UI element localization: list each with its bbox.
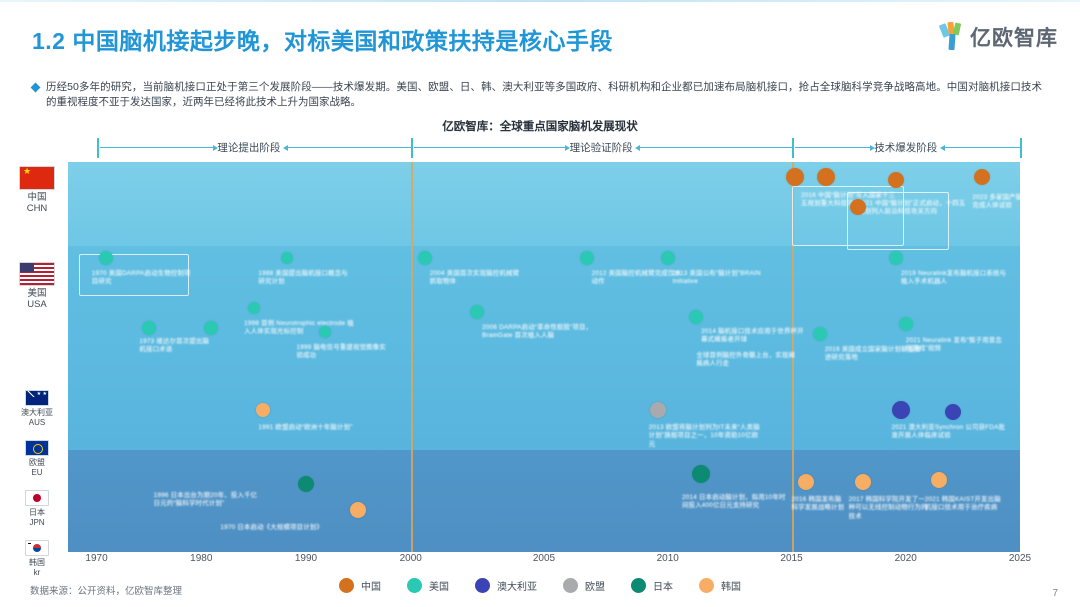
timeline-annotation: 2004 美国首次实现脑控机械臂抓取物体 (430, 270, 526, 287)
logo-mark-icon (941, 22, 967, 52)
data-point-日本 (298, 476, 314, 492)
legend-swatch (699, 578, 714, 593)
phase-arrow-right (287, 147, 411, 148)
country-name: 澳大利亚AUS (8, 408, 66, 427)
timeline-annotation: 2021 Neuralink 发布“猴子用意念玩游戏”视频 (906, 337, 1006, 354)
country-label-AUS: 澳大利亚AUS (8, 390, 66, 427)
highlight-callout-box (79, 254, 189, 296)
data-point-韩国 (855, 474, 871, 490)
phase-label: 技术爆发阶段 (874, 140, 937, 155)
chart-title: 亿欧智库：全球重点国家脑机发展现状 (0, 118, 1080, 134)
timeline-annotation: 2017 韩国科学院开发了一种可以无线控制动物行为的技术 (849, 496, 929, 521)
diamond-bullet-icon (31, 83, 41, 93)
timeline-annotation: 1970 日本启动《大规模项目计划》 (220, 524, 340, 532)
flag-icon-EU (25, 440, 49, 456)
legend-swatch (563, 578, 578, 593)
phase-bracket-row: 理论提出阶段理论验证阶段技术爆发阶段 (68, 138, 1020, 160)
flag-icon-AUS (25, 390, 49, 406)
data-point-日本 (692, 465, 710, 483)
timeline-annotation: 1991 欧盟启动“欧洲十年脑计划” (258, 424, 368, 432)
legend-label: 韩国 (721, 578, 741, 593)
timeline-annotation: 全球首例脑控外骨骼上台，实现瘫痪病人行走 (696, 352, 800, 369)
legend-label: 日本 (653, 578, 673, 593)
country-name: 韩国kr (8, 558, 66, 577)
timeline-annotation: 2013 美国公布“脑计划”BRAIN Initiative (673, 270, 769, 287)
legend-item-欧盟[interactable]: 欧盟 (563, 578, 605, 593)
legend-item-韩国[interactable]: 韩国 (699, 578, 741, 593)
country-label-kr: 韩国kr (8, 540, 66, 577)
timeline-annotation: 1996 日本出台为期20年、投入千亿日元的“脑科学时代计划” (154, 492, 258, 509)
phase-arrow-right (639, 147, 791, 148)
legend-swatch (631, 578, 646, 593)
country-name: 日本JPN (8, 508, 66, 527)
logo-text: 亿欧智库 (970, 22, 1058, 52)
phase-arrow-left (414, 147, 566, 148)
data-point-韩国 (931, 472, 947, 488)
phase-arrow-right (944, 147, 1020, 148)
legend-item-中国[interactable]: 中国 (339, 578, 381, 593)
phase-tick (792, 138, 794, 158)
country-label-CHN: 中国CHN (8, 166, 66, 214)
phase-divider-1 (411, 162, 413, 552)
phase-arrow-left (795, 147, 871, 148)
country-name: 中国CHN (8, 192, 66, 214)
timeline-annotation: 2023 多家国产脑机接口企业完成人体试验 (972, 194, 1058, 211)
phase-label: 理论验证阶段 (570, 140, 633, 155)
data-point-中国 (974, 169, 990, 185)
data-point-美国 (319, 326, 331, 338)
timeline-annotation: 2014 脑机接口技术应用于世界杯开幕式瘫痪者开球 (701, 328, 805, 345)
top-accent-line (0, 0, 1080, 2)
summary-text: 历经50多年的研究，当前脑机接口正处于第三个发展阶段——技术爆发期。美国、欧盟、… (46, 80, 1042, 110)
timeline-annotation: 2006 DARPA启动“革命性假肢”项目，BrainGate 首次植入人脑 (482, 324, 598, 341)
data-point-美国 (418, 251, 432, 265)
data-point-美国 (142, 321, 156, 335)
timeline-annotation: 2014 日本启动脑计划，拟用10年时间投入400亿日元支持研究 (682, 494, 792, 511)
legend-label: 欧盟 (585, 578, 605, 593)
page-number: 7 (1052, 588, 1058, 599)
axis-tick-2025: 2025 (1009, 553, 1031, 564)
flag-icon-CHN (19, 166, 55, 190)
legend-item-日本[interactable]: 日本 (631, 578, 673, 593)
flag-icon-USA (19, 262, 55, 286)
axis-tick-1970: 1970 (85, 553, 107, 564)
brand-logo: 亿欧智库 (941, 22, 1058, 52)
data-point-美国 (248, 302, 260, 314)
phase-label: 理论提出阶段 (217, 140, 280, 155)
data-point-美国 (204, 321, 218, 335)
country-name: 欧盟EU (8, 458, 66, 477)
axis-tick-2020: 2020 (895, 553, 917, 564)
timeline-annotation: 1988 美国提出脑机接口概念与研究计划 (258, 270, 354, 287)
data-point-美国 (661, 251, 675, 265)
timeline-chart: 1970 美国DARPA启动生物控制项目研究1988 美国提出脑机接口概念与研究… (68, 162, 1020, 552)
data-point-美国 (899, 317, 913, 331)
timeline-annotation: 2019 Neuralink发布脑机接口系统与植入手术机器人 (901, 270, 1011, 287)
country-label-JPN: 日本JPN (8, 490, 66, 527)
data-point-美国 (99, 251, 113, 265)
phase-tick (97, 138, 99, 158)
data-point-韩国 (798, 474, 814, 490)
phase-tick (411, 138, 413, 158)
timeline-annotation: 2021 澳大利亚Synchron 公司获FDA批准开展人体临床试验 (891, 424, 1009, 441)
axis-tick-2010: 2010 (657, 553, 679, 564)
country-label-EU: 欧盟EU (8, 440, 66, 477)
timeline-annotation: 2013 欧盟将脑计划列为IT未来“人类脑计划”旗舰项目之一，10年资助10亿欧… (649, 424, 761, 449)
legend-item-美国[interactable]: 美国 (407, 578, 449, 593)
legend-swatch (475, 578, 490, 593)
axis-tick-2015: 2015 (780, 553, 802, 564)
timeline-annotation: 1973 维达尔首次提出脑机接口术语 (139, 338, 209, 355)
legend-label: 中国 (361, 578, 381, 593)
timeline-annotation: 2021 韩国KAIST开发出脑机接口技术用于治疗疾病 (925, 496, 1005, 513)
axis-tick-1980: 1980 (190, 553, 212, 564)
page-title: 1.2 中国脑机接起步晚，对标美国和政策扶持是核心手段 (32, 22, 613, 56)
source-note: 数据来源：公开资料，亿欧智库整理 (30, 583, 182, 597)
legend-item-澳大利亚[interactable]: 澳大利亚 (475, 578, 537, 593)
legend-label: 澳大利亚 (497, 578, 537, 593)
data-point-澳大利亚 (892, 401, 910, 419)
timeline-annotation: 1999 脑电信号重建视觉图像实验成功 (296, 344, 392, 361)
legend-label: 美国 (429, 578, 449, 593)
legend-swatch (407, 578, 422, 593)
phase-arrow-left (100, 147, 214, 148)
data-point-中国 (817, 168, 835, 186)
flag-icon-JPN (25, 490, 49, 506)
axis-tick-2000: 2000 (400, 553, 422, 564)
country-label-USA: 美国USA (8, 262, 66, 310)
timeline-annotation: 1998 首例 Neurotrophic electrode 植入人体实现光标控… (244, 320, 354, 337)
phase-tick (1020, 138, 1022, 158)
x-axis: 197019801990200020052010201520202025 (68, 553, 1020, 571)
country-rail: 中国CHN美国USA澳大利亚AUS欧盟EU日本JPN韩国kr (8, 162, 66, 554)
axis-tick-2005: 2005 (533, 553, 555, 564)
data-point-美国 (813, 327, 827, 341)
flag-icon-kr (25, 540, 49, 556)
axis-tick-1990: 1990 (295, 553, 317, 564)
country-name: 美国USA (8, 288, 66, 310)
legend-swatch (339, 578, 354, 593)
data-point-美国 (580, 251, 594, 265)
data-point-美国 (281, 252, 293, 264)
timeline-annotation: 2016 韩国发布脑科学发展战略计划 (792, 496, 846, 513)
summary-bullet: 历经50多年的研究，当前脑机接口正处于第三个发展阶段——技术爆发期。美国、欧盟、… (32, 80, 1042, 110)
